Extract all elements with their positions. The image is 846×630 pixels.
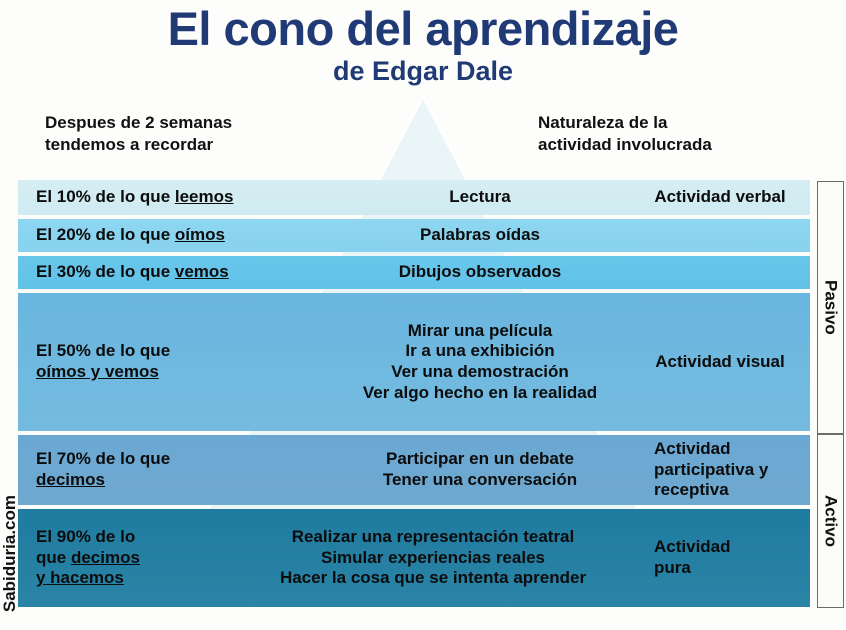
- caption-retention-line2: tendemos a recordar: [45, 134, 345, 156]
- row-50-activity-line2: Ir a una exhibición: [330, 341, 630, 362]
- row-90-retention-keyword2: y hacemos: [36, 568, 124, 587]
- row-30-activity: Dibujos observados: [330, 262, 630, 283]
- cone-row-90: El 90% de lo que decimos y hacemos Reali…: [18, 509, 810, 607]
- row-50-retention-line1: El 50% de lo que: [36, 341, 330, 362]
- page-subtitle: de Edgar Dale: [0, 56, 846, 87]
- row-90-retention-keyword1: decimos: [71, 548, 140, 567]
- row-90-retention-line2: que decimos: [36, 548, 218, 569]
- row-70-retention-keyword: decimos: [36, 470, 105, 489]
- row-70-activity: Participar en un debate Tener una conver…: [318, 449, 642, 490]
- cone-row-50: El 50% de lo que oímos y vemos Mirar una…: [18, 293, 810, 431]
- row-10-retention-text: El 10% de lo que: [36, 187, 175, 206]
- row-90-retention-line3: y hacemos: [36, 568, 218, 589]
- row-70-retention-line2: decimos: [36, 470, 318, 491]
- row-50-retention-keyword: oímos y vemos: [36, 362, 159, 381]
- side-label-active: Activo: [817, 434, 844, 608]
- row-70-nature-line3: receptiva: [654, 480, 810, 501]
- row-90-nature-line2: pura: [654, 558, 810, 579]
- row-10-nature: Actividad verbal: [630, 187, 810, 208]
- row-50-activity-line1: Mirar una película: [330, 321, 630, 342]
- row-10-retention-keyword: leemos: [175, 187, 234, 206]
- row-90-nature-line1: Actividad: [654, 537, 810, 558]
- side-label-passive-text: Pasivo: [821, 280, 841, 335]
- row-20-retention-text: El 20% de lo que: [36, 225, 175, 244]
- row-30-retention: El 30% de lo que vemos: [18, 262, 330, 283]
- cone-row-30: El 30% de lo que vemos Dibujos observado…: [18, 256, 810, 289]
- row-90-retention-line1: El 90% de lo: [36, 527, 218, 548]
- side-label-active-text: Activo: [821, 495, 841, 547]
- watermark: Sabiduria.com: [0, 432, 20, 612]
- row-70-activity-line1: Participar en un debate: [318, 449, 642, 470]
- page-title: El cono del aprendizaje: [0, 4, 846, 53]
- row-90-activity-line1: Realizar una representación teatral: [218, 527, 648, 548]
- row-30-retention-text: El 30% de lo que: [36, 262, 175, 281]
- row-70-nature-line1: Actividad: [654, 439, 810, 460]
- row-90-activity-line3: Hacer la cosa que se intenta aprender: [218, 568, 648, 589]
- caption-retention: Despues de 2 semanas tendemos a recordar: [45, 112, 345, 156]
- row-50-activity: Mirar una película Ir a una exhibición V…: [330, 321, 630, 404]
- row-70-nature-line2: participativa y: [654, 460, 810, 481]
- caption-nature-line1: Naturaleza de la: [538, 112, 818, 134]
- row-50-retention-line2: oímos y vemos: [36, 362, 330, 383]
- watermark-text: Sabiduria.com: [0, 495, 20, 612]
- learning-cone-infographic: El cono del aprendizaje de Edgar Dale De…: [0, 0, 846, 630]
- caption-nature: Naturaleza de la actividad involucrada: [538, 112, 818, 156]
- row-90-nature: Actividad pura: [648, 537, 810, 578]
- row-10-activity: Lectura: [330, 187, 630, 208]
- row-70-retention: El 70% de lo que decimos: [18, 449, 318, 490]
- row-20-activity: Palabras oídas: [330, 225, 630, 246]
- row-70-retention-line1: El 70% de lo que: [36, 449, 318, 470]
- side-label-passive: Pasivo: [817, 181, 844, 434]
- row-90-retention-que: que: [36, 548, 71, 567]
- row-30-retention-keyword: vemos: [175, 262, 229, 281]
- row-50-retention: El 50% de lo que oímos y vemos: [18, 341, 330, 382]
- cone-row-20: El 20% de lo que oímos Palabras oídas: [18, 219, 810, 252]
- row-20-retention: El 20% de lo que oímos: [18, 225, 330, 246]
- row-50-activity-line3: Ver una demostración: [330, 362, 630, 383]
- row-10-retention: El 10% de lo que leemos: [18, 187, 330, 208]
- caption-retention-line1: Despues de 2 semanas: [45, 112, 345, 134]
- row-20-retention-keyword: oímos: [175, 225, 225, 244]
- row-50-activity-line4: Ver algo hecho en la realidad: [330, 383, 630, 404]
- row-70-activity-line2: Tener una conversación: [318, 470, 642, 491]
- caption-nature-line2: actividad involucrada: [538, 134, 818, 156]
- cone-row-70: El 70% de lo que decimos Participar en u…: [18, 435, 810, 505]
- cone-rows: El 10% de lo que leemos Lectura Activida…: [18, 180, 810, 608]
- row-90-activity-line2: Simular experiencias reales: [218, 548, 648, 569]
- row-90-retention: El 90% de lo que decimos y hacemos: [18, 527, 218, 589]
- row-50-nature: Actividad visual: [630, 352, 810, 373]
- cone-row-10: El 10% de lo que leemos Lectura Activida…: [18, 180, 810, 215]
- row-70-nature: Actividad participativa y receptiva: [642, 439, 810, 501]
- row-90-activity: Realizar una representación teatral Simu…: [218, 527, 648, 589]
